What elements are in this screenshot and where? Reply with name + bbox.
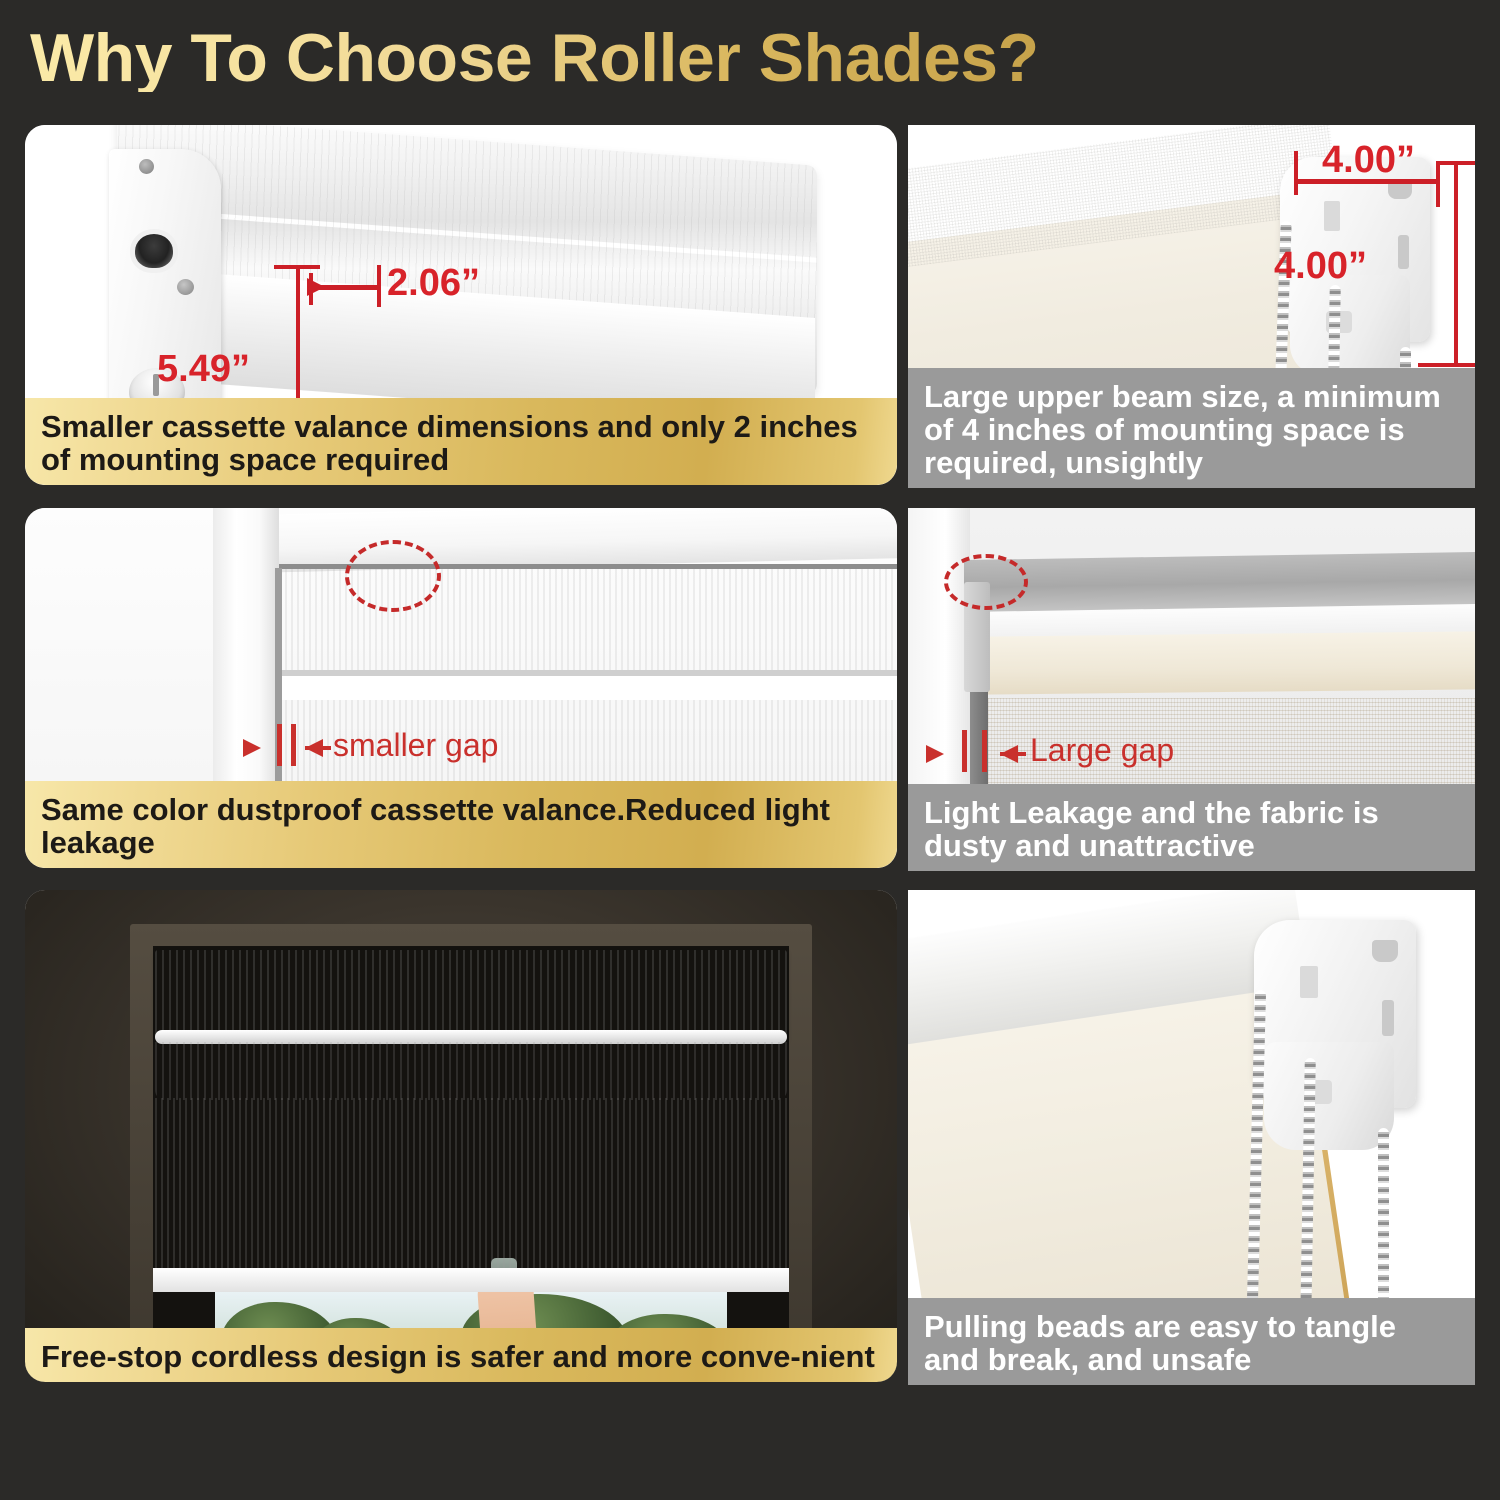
panel-3-caption-text: Same color dustproof cassette valance.Re… [25, 781, 897, 868]
end-cap-screw-mid-icon [177, 279, 194, 295]
panel-6-caption-text: Pulling beads are easy to tangle and bre… [908, 1298, 1475, 1385]
gap-leader-line [1000, 752, 1026, 756]
highlight-circle-icon [944, 554, 1028, 610]
panel-1-caption-text: Smaller cassette valance dimensions and … [25, 398, 897, 485]
dim-cap-top [1436, 161, 1475, 165]
shade-lip [279, 676, 897, 700]
panel-2-caption-text: Large upper beam size, a minimum of 4 in… [908, 368, 1475, 488]
dim-tick-right [1436, 165, 1440, 207]
end-cap-slot-icon [130, 229, 178, 273]
title-bar: Why To Choose Roller Shades? [0, 0, 1500, 118]
panel-2-caption-bar: Large upper beam size, a minimum of 4 in… [908, 368, 1475, 488]
highlight-circle-icon [345, 540, 441, 612]
dim-arrow-left-icon [307, 278, 325, 296]
panel-6-caption-bar: Pulling beads are easy to tangle and bre… [908, 1298, 1475, 1385]
panel-cordless-design: Free-stop cordless design is safer and m… [25, 890, 897, 1382]
mounting-bracket-lower [1264, 1042, 1394, 1150]
gap-callout-label: smaller gap [333, 727, 498, 764]
dim-cap-bottom [1418, 363, 1475, 367]
gap-callout-label: Large gap [1030, 732, 1174, 769]
panel-smaller-cassette-valance: 2.06” 5.49” Smaller cassette valance dim… [25, 125, 897, 485]
bracket-emboss-icon [1324, 201, 1340, 231]
shade-head-lower [155, 1042, 787, 1100]
panel-3-caption-bar: Same color dustproof cassette valance.Re… [25, 781, 897, 868]
shade-fabric-panel [155, 1098, 787, 1273]
bracket-emboss-icon [1300, 966, 1318, 998]
panel-5-caption-text: Free-stop cordless design is safer and m… [25, 1328, 891, 1382]
panel-5-caption-bar: Free-stop cordless design is safer and m… [25, 1328, 897, 1382]
dimension-label-height: 4.00” [1274, 245, 1367, 288]
valance-front-cream [980, 631, 1475, 694]
bracket-slot-icon [1382, 1000, 1394, 1036]
shade-cassette-head [155, 950, 787, 1038]
dim-line-height [1454, 161, 1458, 367]
gap-bar-right [982, 730, 987, 772]
gap-bar-left [277, 724, 282, 766]
panel-pulling-beads: Pulling beads are easy to tangle and bre… [908, 890, 1475, 1385]
panel-smaller-gap: smaller gap Same color dustproof cassett… [25, 508, 897, 868]
panel-large-upper-beam: 4.00” 4.00” Large upper beam size, a min… [908, 125, 1475, 488]
dimension-label-height: 5.49” [157, 348, 250, 391]
panel-4-caption-text: Light Leakage and the fabric is dusty an… [908, 784, 1475, 871]
dimension-label-width: 2.06” [387, 262, 480, 305]
panel-4-caption-bar: Light Leakage and the fabric is dusty an… [908, 784, 1475, 871]
dim-cap-top [274, 265, 320, 269]
gap-arrow-left-icon [926, 745, 944, 763]
gap-arrow-left-icon [243, 739, 261, 757]
dimension-label-width: 4.00” [1322, 139, 1415, 182]
page-title: Why To Choose Roller Shades? [30, 24, 1039, 92]
bracket-notch-icon [1372, 940, 1398, 962]
gap-bar-right [291, 724, 296, 766]
panel-1-caption-bar: Smaller cassette valance dimensions and … [25, 398, 897, 485]
panel-large-gap: Large gap Light Leakage and the fabric i… [908, 508, 1475, 871]
panel-5-photo [25, 890, 897, 1382]
mounting-bracket-lower [1290, 275, 1410, 375]
dim-tick-left [1294, 151, 1298, 195]
gap-bar-left [962, 730, 967, 772]
shade-bottom-rail [153, 1268, 789, 1292]
gap-leader-line [305, 746, 331, 750]
bracket-slot-icon [1398, 235, 1409, 269]
end-cap-screw-top-icon [139, 159, 154, 174]
